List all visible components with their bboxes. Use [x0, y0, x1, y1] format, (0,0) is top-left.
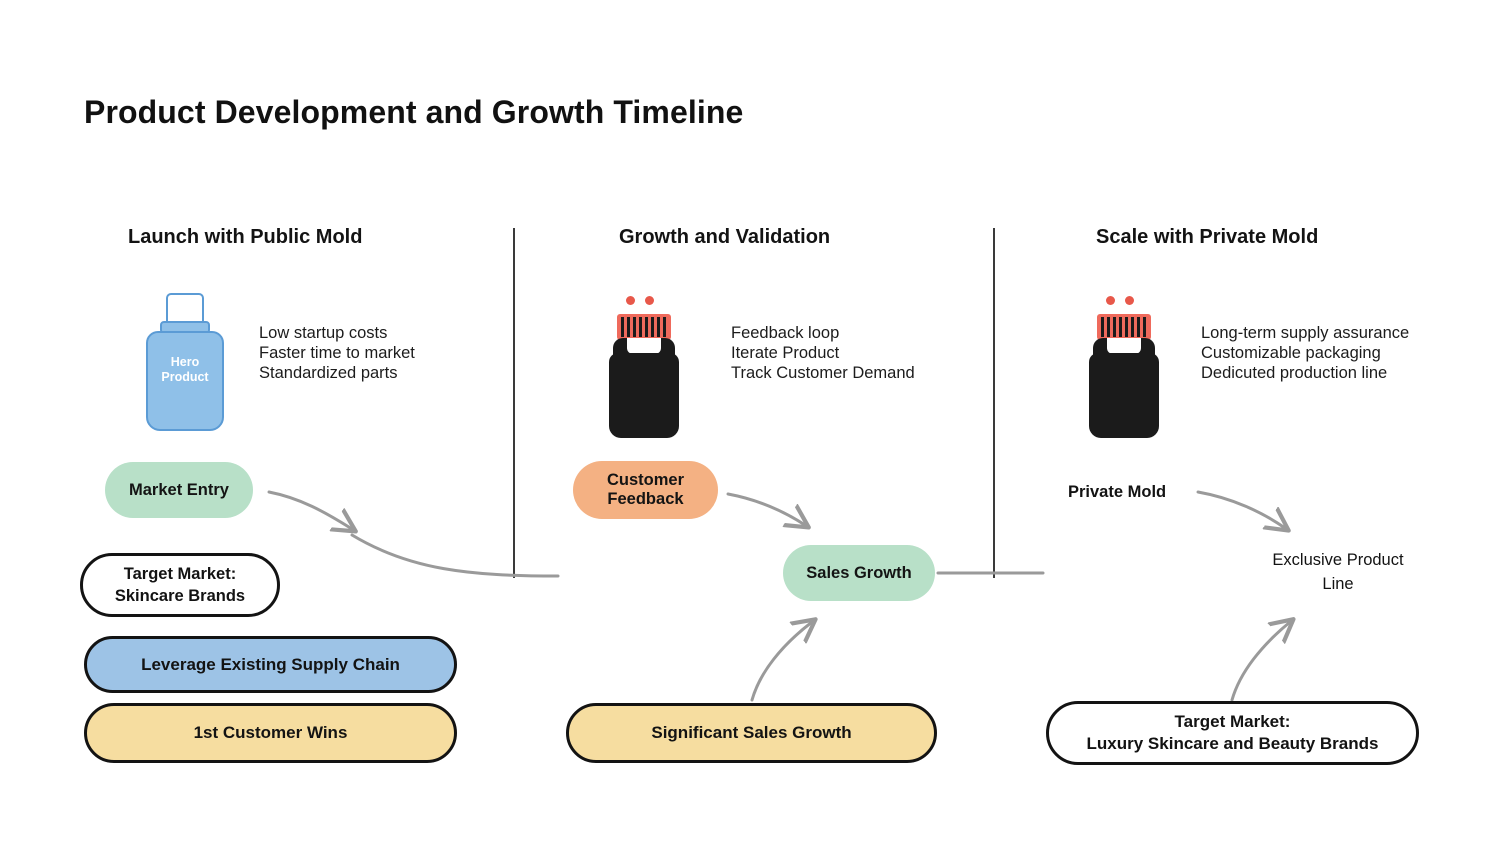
arrow-market-entry [269, 492, 352, 529]
bottle-black-icon-scale [1089, 296, 1159, 441]
column-divider-2 [993, 228, 995, 578]
bullet-item: Standardized parts [259, 363, 415, 383]
bottle-cap-ridges [1101, 317, 1147, 337]
arrow-private-mold-to-exclusive-line [1198, 492, 1285, 528]
bottle-black-icon-growth [609, 296, 679, 441]
bullet-item: Low startup costs [259, 323, 415, 343]
bottle-cap [1097, 314, 1151, 340]
arrow-luxury-target-to-exclusive-line [1232, 622, 1290, 700]
column-header-launch: Launch with Public Mold [128, 226, 362, 249]
bullet-item: Dedicuted production line [1201, 363, 1409, 383]
bullets-launch: Low startup costs Faster time to market … [259, 323, 415, 383]
bottle-neck-notch [1107, 338, 1141, 354]
bullet-item: Track Customer Demand [731, 363, 915, 383]
bottle-blue-icon: Hero Product [146, 293, 224, 433]
capsule-line2: Luxury Skincare and Beauty Brands [1087, 734, 1379, 753]
bottle-body [1089, 353, 1159, 438]
bullets-growth: Feedback loop Iterate Product Track Cust… [731, 323, 915, 383]
bottle-label-line2: Product [161, 370, 208, 384]
bottle-dot-left [626, 296, 635, 305]
pill-customer-feedback[interactable]: Customer Feedback [573, 461, 718, 519]
bottle-label: Hero Product [146, 355, 224, 385]
timeline-infographic: Product Development and Growth Timeline … [0, 0, 1512, 864]
bar-significant-sales-growth[interactable]: Significant Sales Growth [566, 703, 937, 763]
bullet-item: Faster time to market [259, 343, 415, 363]
label-line1: Exclusive Product [1272, 551, 1403, 569]
bottle-cap-ridges [621, 317, 667, 337]
pill-market-entry[interactable]: Market Entry [105, 462, 253, 518]
pill-line2: Feedback [607, 490, 683, 508]
capsule-target-market-luxury: Target Market: Luxury Skincare and Beaut… [1046, 701, 1419, 765]
bar-leverage-supply-chain[interactable]: Leverage Existing Supply Chain [84, 636, 457, 693]
bullet-item: Iterate Product [731, 343, 915, 363]
connector-line-launch-to-growth [352, 535, 558, 576]
label-private-mold: Private Mold [1068, 480, 1166, 504]
capsule-line1: Target Market: [124, 565, 236, 583]
bullet-item: Feedback loop [731, 323, 915, 343]
bottle-neck-notch [627, 338, 661, 354]
bottle-label-line1: Hero [171, 355, 199, 369]
page-title: Product Development and Growth Timeline [84, 94, 743, 131]
bar-first-customer-wins[interactable]: 1st Customer Wins [84, 703, 457, 763]
bullet-item: Customizable packaging [1201, 343, 1409, 363]
capsule-line1: Target Market: [1175, 712, 1291, 731]
bottle-dot-left [1106, 296, 1115, 305]
bullet-item: Long-term supply assurance [1201, 323, 1409, 343]
pill-sales-growth[interactable]: Sales Growth [783, 545, 935, 601]
bottle-dot-right [645, 296, 654, 305]
arrow-customer-feedback-to-sales-growth [728, 494, 805, 525]
pill-line1: Customer [607, 471, 684, 489]
label-line2: Line [1322, 575, 1353, 593]
capsule-line2: Skincare Brands [115, 587, 245, 605]
bottle-body [609, 353, 679, 438]
column-header-growth: Growth and Validation [619, 226, 830, 249]
arrow-significant-sales-to-sales-growth [752, 622, 812, 700]
bottle-cap [617, 314, 671, 340]
bottle-dot-right [1125, 296, 1134, 305]
column-header-scale: Scale with Private Mold [1096, 226, 1318, 249]
label-exclusive-product-line: Exclusive Product Line [1248, 548, 1428, 596]
column-divider-1 [513, 228, 515, 578]
bullets-scale: Long-term supply assurance Customizable … [1201, 323, 1409, 383]
capsule-target-market-launch: Target Market: Skincare Brands [80, 553, 280, 617]
